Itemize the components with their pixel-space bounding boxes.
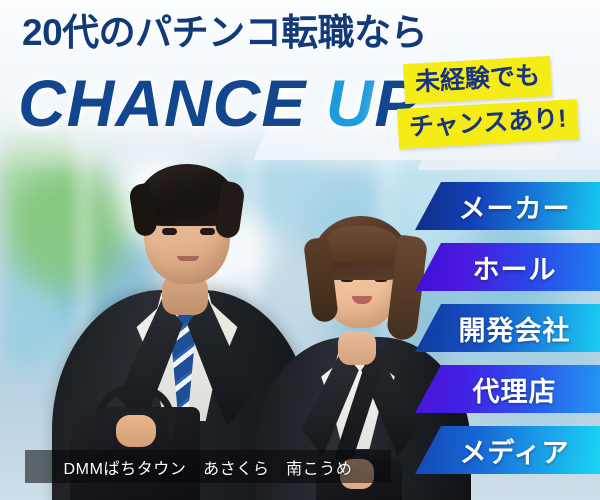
category-button-development-company[interactable]: 開発会社 (415, 304, 600, 352)
badge-line-1: 未経験でも (403, 56, 552, 104)
category-label-hall: ホール (459, 248, 557, 287)
male-hand (116, 415, 156, 447)
caption-text: DMMぱちタウン あさくら 南こうめ (63, 455, 352, 479)
badge-line-1-text: 未経験でも (403, 56, 552, 104)
category-button-media[interactable]: メディア (415, 426, 600, 474)
logo-letter-u: U (326, 66, 375, 140)
logo-word-chance: CHANCE (18, 66, 326, 140)
logo-chance-up: CHANCE UP (18, 64, 438, 142)
female-hair-bangs (320, 226, 402, 262)
male-mouth (177, 256, 199, 261)
male-eye-right (200, 228, 215, 235)
category-label-development-company: 開発会社 (445, 309, 571, 348)
category-button-hall[interactable]: ホール (415, 243, 600, 291)
female-neck (338, 331, 376, 365)
caption-bar: DMMぱちタウン あさくら 南こうめ (25, 450, 391, 483)
category-label-media: メディア (445, 431, 569, 470)
category-button-maker[interactable]: メーカー (415, 182, 600, 230)
male-eye-left (162, 228, 177, 235)
headline-text: 20代のパチンコ転職なら (22, 14, 442, 52)
category-label-agency: 代理店 (459, 370, 557, 409)
category-button-agency[interactable]: 代理店 (415, 365, 600, 413)
category-button-list: メーカー ホール 開発会社 代理店 メディア (415, 182, 600, 487)
ad-banner[interactable]: 20代のパチンコ転職なら CHANCE UP 未経験でも チャンスあり! メーカ… (0, 0, 600, 500)
category-label-maker: メーカー (445, 187, 571, 226)
